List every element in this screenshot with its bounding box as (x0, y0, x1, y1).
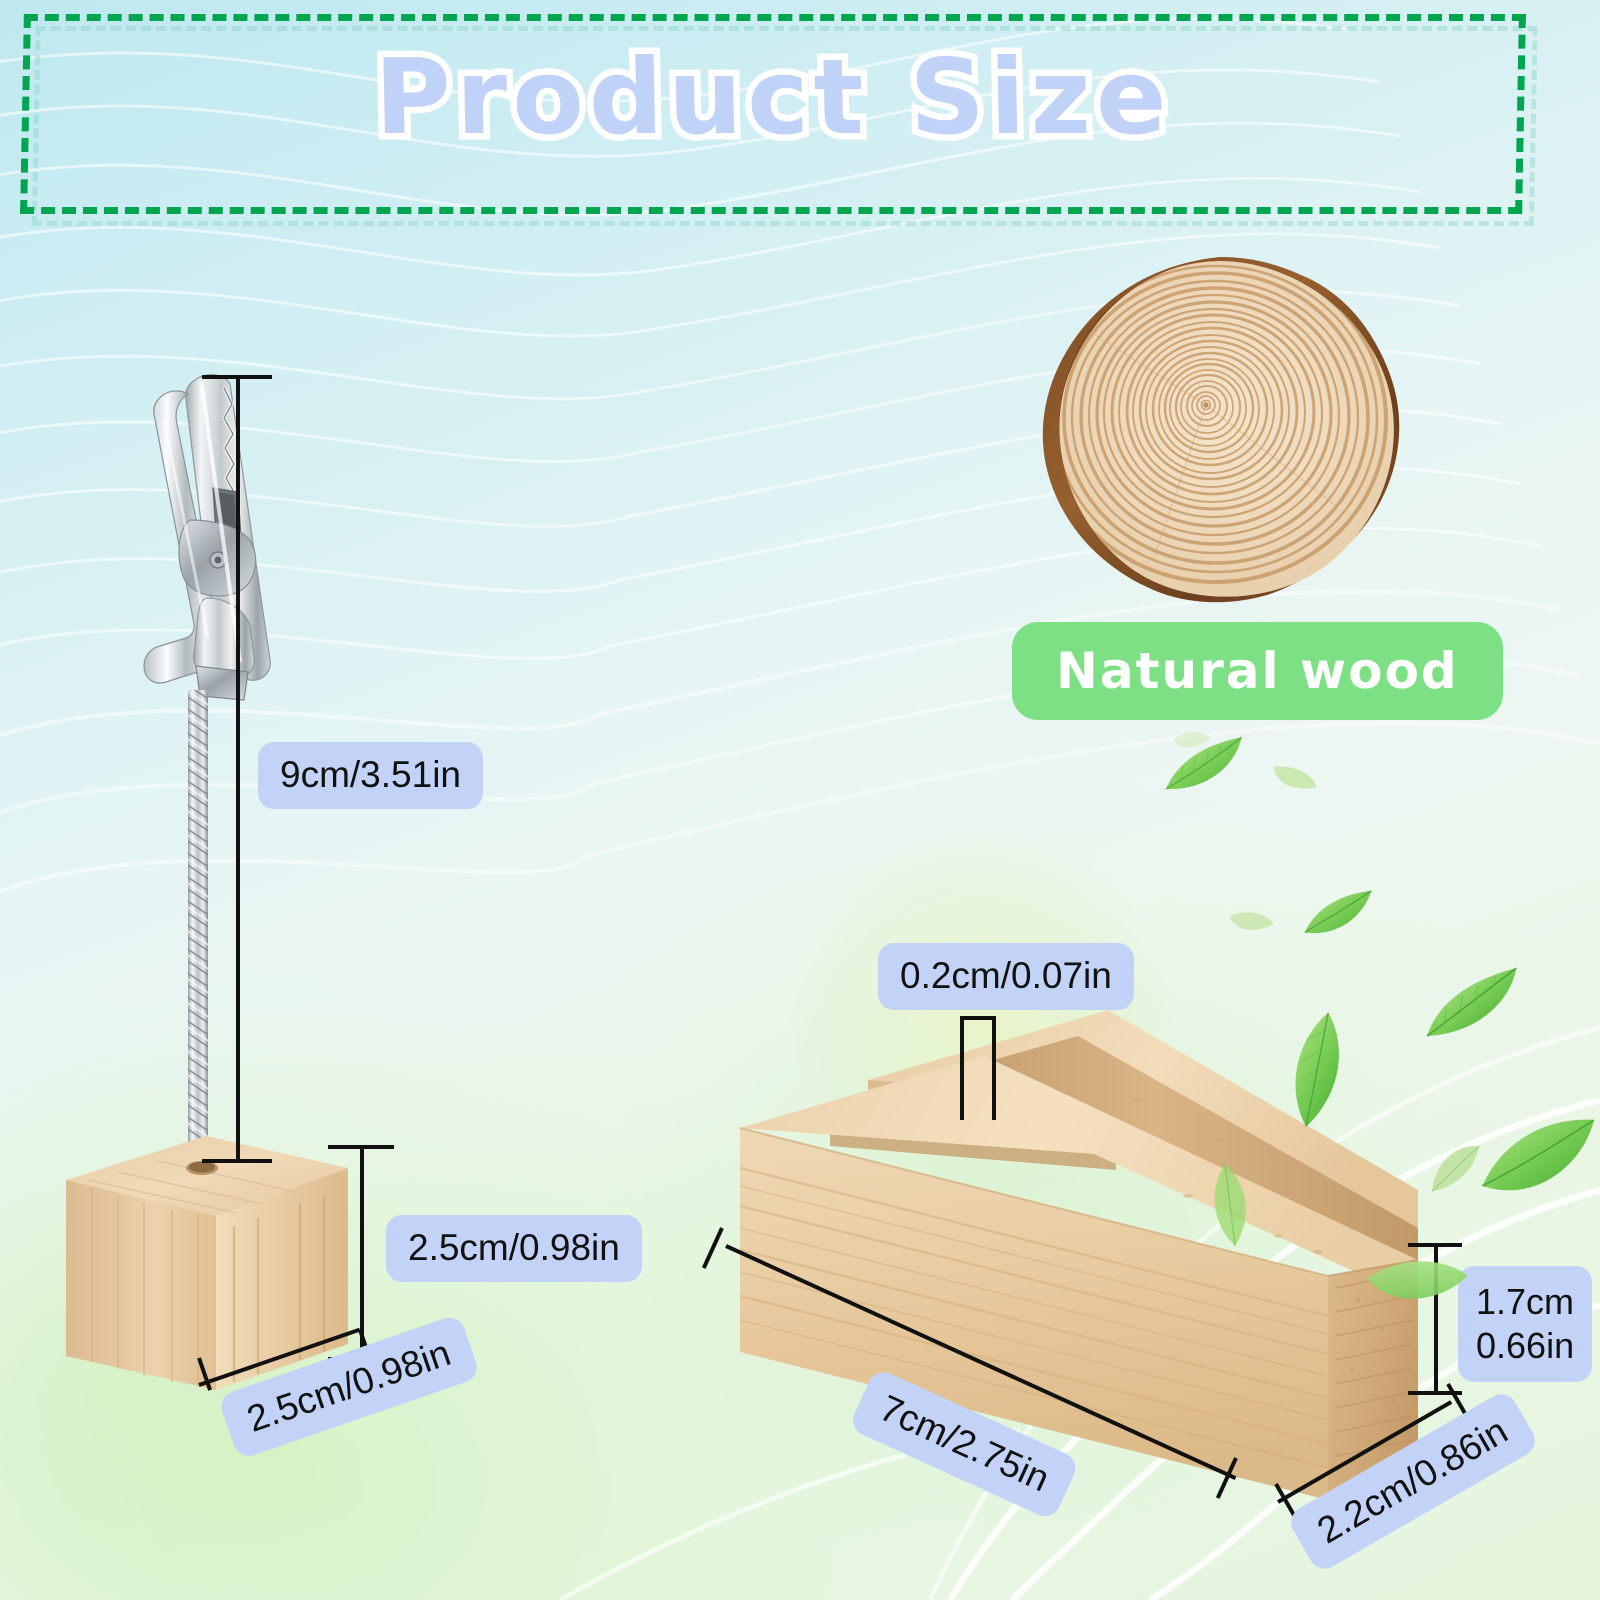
dimension-line-clip-height (236, 375, 240, 1163)
size-badge-clip-height: 9cm/3.51in (258, 742, 483, 809)
natural-wood-badge: Natural wood (1012, 622, 1503, 720)
wood-slice (1035, 255, 1405, 605)
dimension-bracket-slot-width (960, 1016, 996, 1120)
dimension-cap-bottom-clip (202, 1159, 272, 1163)
dimension-cap-top-block-height (1408, 1243, 1462, 1247)
size-badge-block-height-in: 0.66in (1476, 1324, 1574, 1368)
wood-block-stand (718, 1000, 1458, 1520)
leaf-icon-2 (1264, 750, 1320, 807)
dimension-cap-bottom-block-height (1408, 1391, 1462, 1395)
size-badge-block-height-cm: 1.7cm (1476, 1280, 1574, 1324)
leaf-icon-1 (1156, 735, 1254, 801)
leaf-icon-8 (1472, 1112, 1600, 1210)
twisted-wire-stem (178, 690, 218, 1170)
leaf-icon-3 (1221, 896, 1276, 951)
size-badge-slot-width: 0.2cm/0.07in (878, 943, 1134, 1010)
infographic-canvas: Product Size (0, 0, 1600, 1600)
page-title: Product Size (21, 40, 1525, 154)
size-badge-cube-height: 2.5cm/0.98in (386, 1215, 642, 1282)
dimension-cap-top-clip (202, 375, 272, 379)
size-badge-block-height: 1.7cm 0.66in (1458, 1266, 1592, 1382)
leaf-icon-11 (1166, 719, 1213, 765)
leaf-icon-4 (1296, 887, 1381, 944)
dimension-cap-top-cube (328, 1145, 394, 1149)
dimension-line-block-height (1434, 1243, 1438, 1395)
alligator-clip (120, 370, 320, 700)
